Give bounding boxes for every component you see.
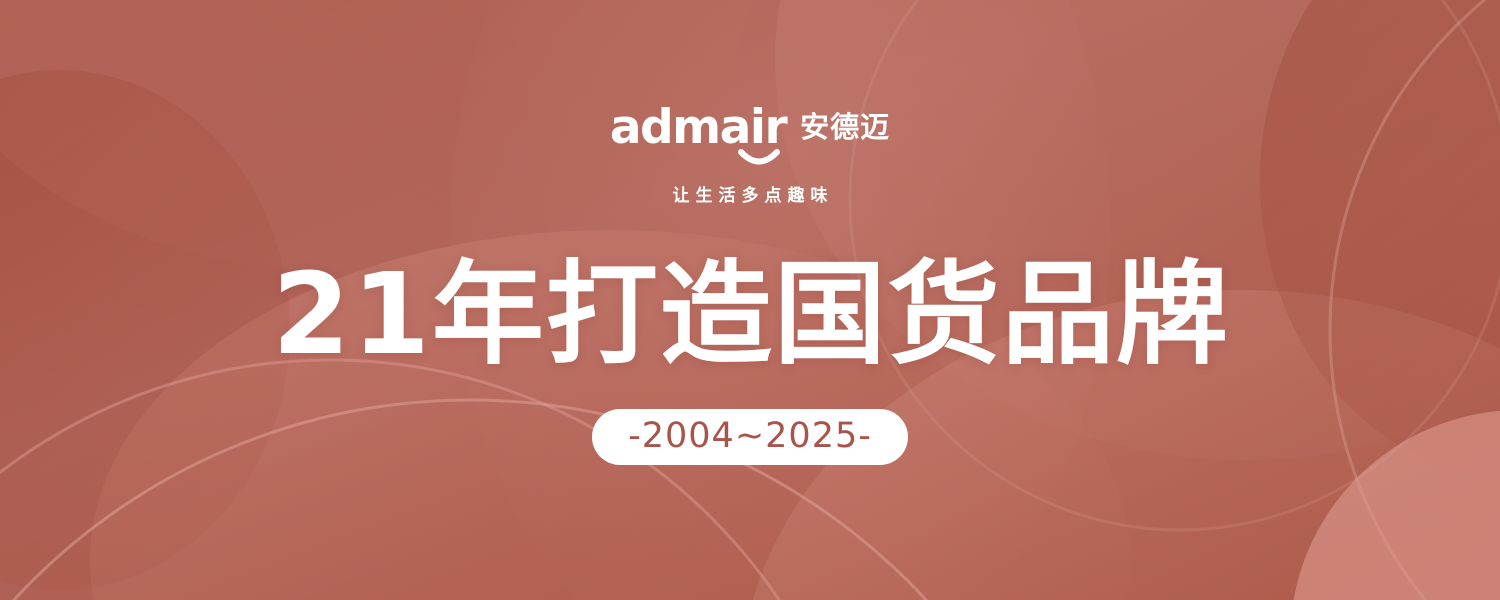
smile-curve-icon bbox=[738, 149, 780, 170]
banner-headline: 21年打造国货品牌 bbox=[270, 259, 1230, 371]
brand-logo: admair 安德迈 bbox=[610, 104, 890, 151]
brand-chinese-name: 安德迈 bbox=[800, 113, 890, 142]
year-range-badge: -2004~2025- bbox=[592, 409, 908, 465]
brand-tagline: 让生活多点趣味 bbox=[667, 188, 834, 205]
wordmark-wrap: admair bbox=[610, 104, 786, 151]
brand-wordmark: admair bbox=[610, 104, 786, 151]
promo-banner: admair 安德迈 让生活多点趣味 21年打造国货品牌 -2004~2025- bbox=[0, 0, 1500, 600]
banner-content: admair 安德迈 让生活多点趣味 21年打造国货品牌 -2004~2025- bbox=[0, 0, 1500, 600]
